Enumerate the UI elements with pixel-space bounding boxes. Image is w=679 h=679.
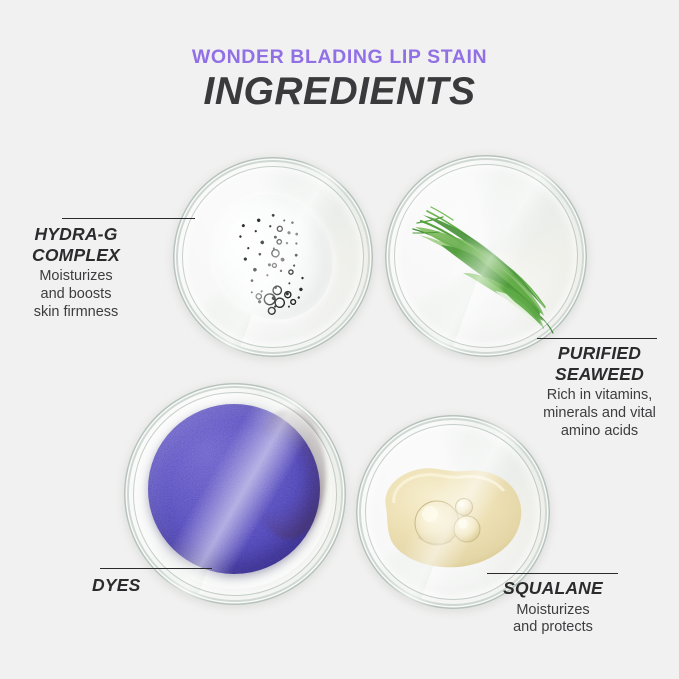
powder-grain-texture — [148, 404, 320, 574]
ingredient-title: HYDRA-G COMPLEX — [0, 224, 152, 265]
ingredient-label-dyes: DYES — [92, 575, 212, 596]
ingredient-label-squalane: SQUALANE Moisturizes and protects — [478, 578, 628, 637]
swatch-cream-oil-droplets — [374, 445, 534, 577]
ingredient-title: SQUALANE — [478, 578, 628, 599]
ingredient-title: PURIFIED SEAWEED — [520, 343, 679, 384]
ingredient-description: Moisturizes and boosts skin firmness — [0, 268, 152, 321]
ingredient-title: DYES — [92, 575, 212, 596]
leader-line-dyes — [100, 568, 212, 569]
ingredient-description: Moisturizes and protects — [478, 602, 628, 637]
ingredient-label-purified-seaweed: PURIFIED SEAWEED Rich in vitamins, miner… — [520, 343, 679, 440]
leader-line-hydra-g-complex — [62, 218, 195, 219]
petri-dish-dyes — [124, 383, 346, 605]
petri-dish-hydra-g-complex — [173, 157, 373, 357]
leader-line-purified-seaweed — [537, 338, 657, 339]
page-title: INGREDIENTS — [0, 70, 679, 114]
swatch-blue-violet-powder — [148, 404, 320, 574]
gel-bubbles-icon — [191, 173, 355, 342]
swatch-green-seaweed-blades — [403, 185, 569, 335]
product-name: WONDER BLADING LIP STAIN — [0, 46, 679, 69]
petri-dish-purified-seaweed — [385, 155, 587, 357]
leader-line-squalane — [487, 573, 618, 574]
swatch-clear-gel-with-bubbles — [191, 173, 355, 342]
infographic-stage: WONDER BLADING LIP STAIN INGREDIENTS — [0, 0, 679, 679]
ingredient-label-hydra-g-complex: HYDRA-G COMPLEX Moisturizes and boosts s… — [0, 224, 152, 321]
ingredient-description: Rich in vitamins, minerals and vital ami… — [520, 387, 679, 440]
